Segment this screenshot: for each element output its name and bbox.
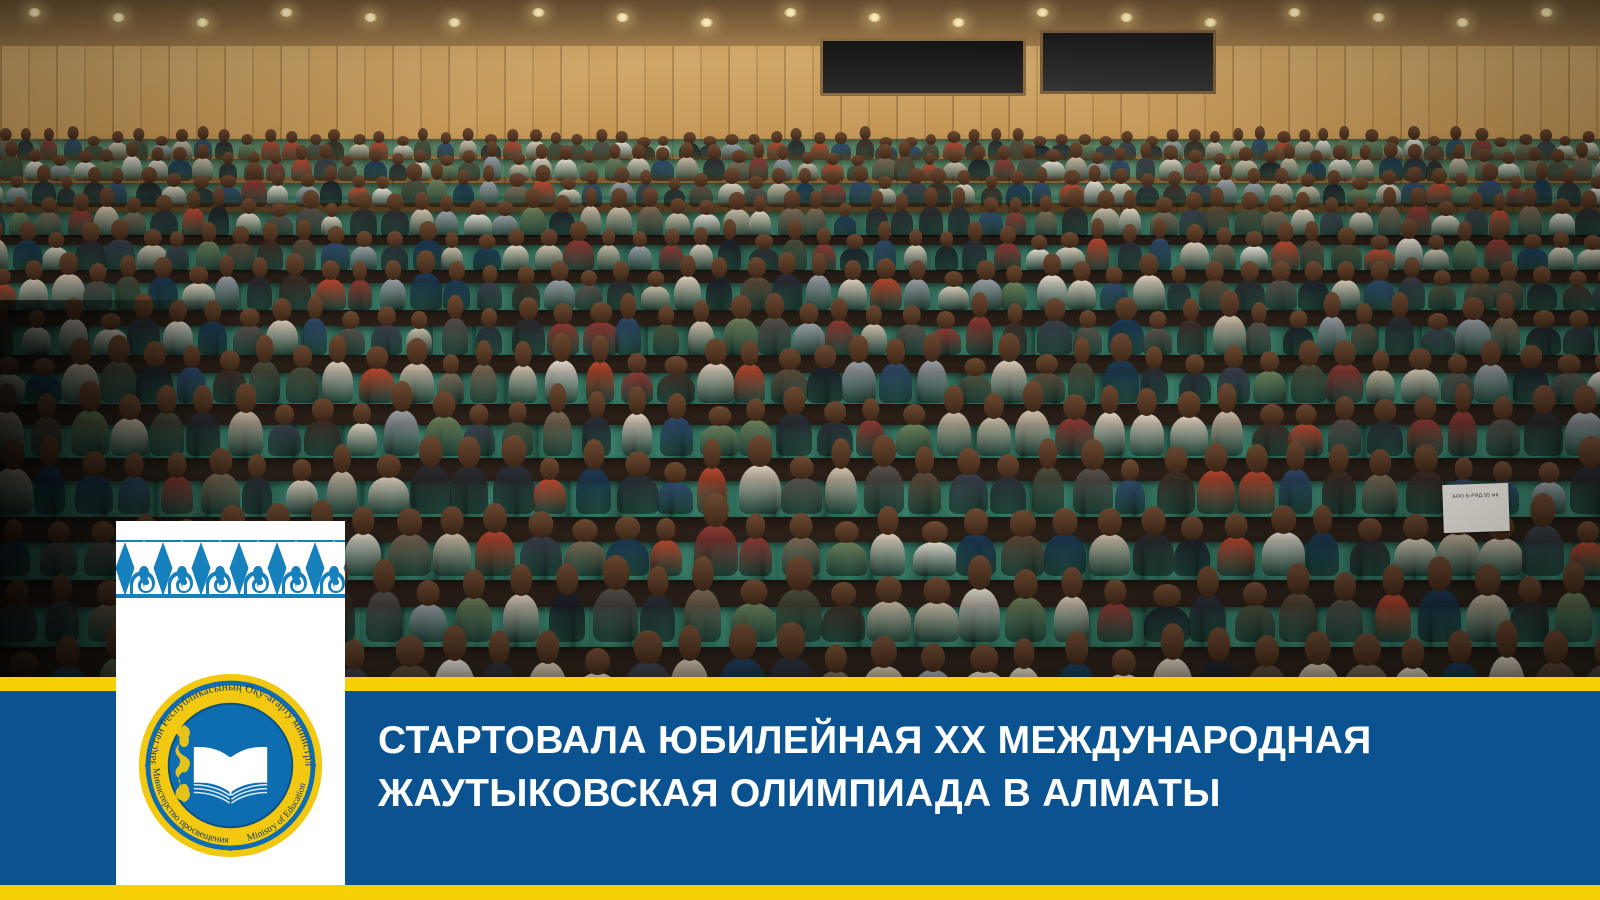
audience-member [322,361,353,403]
page-title: СТАРТОВАЛА ЮБИЛЕЙНАЯ XX МЕЖДУНАРОДНАЯ ЖА… [378,714,1558,820]
audience-row [0,456,1600,514]
ceiling-light [1456,18,1469,27]
ceiling-light [1540,8,1553,17]
audience-member [1306,532,1339,576]
audience-member [1130,414,1164,456]
audience-member [657,482,693,514]
audience-member [1089,534,1130,576]
audience-member [1522,525,1564,576]
audience-member [268,424,301,456]
audience-member [1524,412,1563,456]
audience-member [410,465,451,514]
ceiling-light [784,8,797,17]
audience-member [914,602,959,642]
audience-member [1486,419,1520,456]
audience-member [949,473,988,514]
audience-member [384,410,419,456]
ceiling-light [616,13,629,22]
audience-member [867,601,911,642]
audience-member [734,364,765,403]
audience-member [1133,275,1165,310]
audience-member [822,605,865,642]
audience-member [1133,533,1174,576]
audience-member [475,531,515,576]
audience-member [913,542,957,576]
audience-member [697,363,734,403]
ceiling-light [952,18,965,27]
audience-member [286,367,319,403]
audience-row [0,401,1600,456]
ceiling-light [28,8,41,17]
headline-line-1: СТАРТОВАЛА ЮБИЛЕЙНАЯ XX МЕЖДУНАРОДНАЯ [378,714,1558,767]
audience-member [1197,470,1235,514]
news-banner: БИО Б-РЯД 85 мв СТАРТОВАЛА ЮБИЛЕЙНАЯ XX … [0,0,1600,900]
audience-member [781,478,822,514]
audience-member [1366,370,1395,403]
audience-member [966,316,993,355]
ceiling-light [1288,8,1301,17]
audience-member [622,413,652,456]
logo-panel: Қазақстан Республикасының Оқу-ағарту мин… [116,521,345,885]
ceiling-light [1036,8,1049,17]
ceiling-light [1372,13,1385,22]
control-booth-window-2 [1040,30,1216,94]
audience-member [959,588,1000,642]
yellow-bottom-band [0,885,1600,900]
audience-member [1291,364,1326,403]
audience-member [825,467,857,514]
audience-member [442,318,468,355]
audience-member [1362,474,1398,514]
ministry-of-education-emblem: Қазақстан Республикасының Оқу-ағарту мин… [134,669,327,862]
ceiling-light [1120,13,1133,22]
audience-member [410,273,442,310]
ceiling-light [364,13,377,22]
audience-member [470,364,497,403]
audience-member [1217,537,1255,576]
kazakh-ornament-icon [116,540,345,617]
ceiling-light [196,18,209,27]
audience-member [1385,316,1414,355]
ceiling-light [868,13,881,22]
control-booth-window [820,38,1026,96]
audience-member [509,365,537,403]
audience-member [660,417,693,456]
auditorium-ceiling [0,0,1600,46]
audience-member [917,360,947,403]
audience-member [1253,371,1286,403]
audience-member [366,591,402,642]
audience-member [1570,466,1600,514]
audience-member [593,588,638,642]
audience-member [739,537,772,576]
audience-member [433,533,471,576]
audience-member [776,413,812,456]
audience-member [1238,471,1275,514]
audience-member [1005,597,1046,642]
audience-member [327,471,357,514]
audience-member [1448,411,1477,456]
audience-member [1115,480,1145,514]
audience-member [908,472,941,514]
audience-member [503,594,539,642]
audience-member [617,475,659,514]
ceiling-light [280,8,293,17]
audience-member [347,423,377,456]
ceiling-light [532,8,545,17]
ceiling-light [1204,18,1217,27]
audience-member [359,368,395,403]
audience-member [1406,471,1446,514]
audience-member [879,363,912,403]
ceiling-light [112,13,125,22]
audience-member [1177,320,1204,355]
ceiling-light [700,18,713,27]
audience-member [826,542,867,576]
audience-member [807,367,843,403]
audience-member [543,411,572,456]
audience-member [1097,603,1133,642]
audience-member [739,465,781,514]
audience-member [1032,467,1064,514]
audience-member [1375,594,1411,642]
audience-member [1157,472,1195,514]
headline-line-2: ЖАУТЫКОВСКАЯ ОЛИМПИАДА В АЛМАТЫ [378,767,1558,820]
audience-member [533,479,566,514]
ceiling-light [448,18,461,27]
audience-member [576,468,611,514]
audience-member [870,533,905,576]
audience-member [990,477,1026,514]
seat-sign: БИО Б-РЯД 85 мв [1442,483,1510,533]
audience-member [615,317,641,355]
audience-member [842,361,876,403]
audience-member [977,417,1011,456]
audience-row [0,306,1600,355]
audience-member [1037,320,1072,355]
